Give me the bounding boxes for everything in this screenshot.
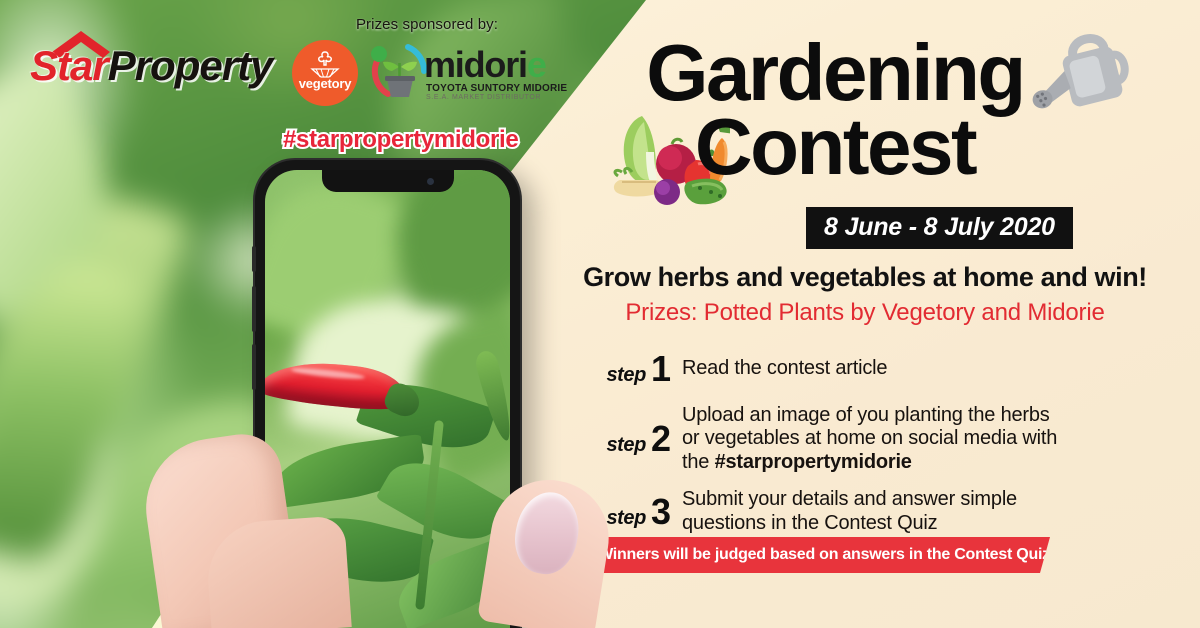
prizes-line: Prizes: Potted Plants by Vegetory and Mi…: [560, 299, 1170, 327]
logo-property-text: Property: [108, 42, 273, 89]
step-2-tag: step2: [600, 418, 682, 460]
step-2-text: Upload an image of you planting the herb…: [682, 404, 1070, 474]
step-2-hashtag: #starpropertymidorie: [715, 451, 912, 473]
midorie-wordmark: midorie: [424, 47, 546, 83]
step-1-tag: step1: [600, 348, 682, 390]
step-3-label: step: [606, 507, 646, 529]
watering-can-icon: [1022, 30, 1134, 122]
hashtag-label: #starpropertymidorie: [283, 126, 518, 154]
sponsors-label: Prizes sponsored by:: [292, 16, 562, 33]
midorie-name-dark: midori: [424, 44, 527, 85]
midorie-name-accent: e: [527, 44, 546, 85]
hand-holding-phone: [150, 430, 610, 628]
step-3-tag: step3: [600, 491, 682, 533]
step-item-1: step1 Read the contest article: [600, 348, 1070, 390]
step-item-3: step3 Submit your details and answer sim…: [600, 488, 1070, 535]
logo-star-text: Star: [30, 42, 108, 89]
step-1-text: Read the contest article: [682, 357, 887, 380]
step-2-number: 2: [651, 418, 670, 459]
winners-note-banner: Winners will be judged based on answers …: [598, 537, 1050, 573]
title-line-2: Contest: [600, 110, 1070, 184]
starproperty-wordmark: StarProperty: [30, 42, 272, 90]
step-item-2: step2 Upload an image of you planting th…: [600, 404, 1070, 474]
vegetory-logo[interactable]: vegetory: [292, 40, 358, 106]
step-1-label: step: [606, 364, 646, 386]
midorie-logo[interactable]: midorie TOYOTA SUNTORY MIDORIE S.E.A. MA…: [368, 39, 550, 107]
step-1-number: 1: [651, 348, 670, 389]
sponsors-block: Prizes sponsored by: vegetory: [292, 16, 562, 107]
starproperty-logo[interactable]: StarProperty: [30, 30, 270, 92]
banner-canvas: StarProperty Prizes sponsored by: vegeto…: [0, 0, 1200, 628]
steps-list: step1 Read the contest article step2 Upl…: [600, 348, 1070, 549]
potted-plant-icon: [368, 41, 430, 103]
date-badge: 8 June - 8 July 2020: [806, 207, 1073, 249]
phone-notch-icon: [322, 170, 454, 192]
midorie-subtitle-2: S.E.A. MARKET DISTRIBUTOR: [426, 94, 541, 101]
page-title: Gardening Contest: [600, 36, 1070, 183]
step-3-number: 3: [651, 491, 670, 532]
tagline: Grow herbs and vegetables at home and wi…: [560, 262, 1170, 293]
step-3-text: Submit your details and answer simple qu…: [682, 488, 1070, 535]
vegetory-wordmark: vegetory: [292, 76, 358, 91]
step-2-label: step: [606, 434, 646, 456]
midorie-subtitle-1: TOYOTA SUNTORY MIDORIE: [426, 83, 567, 94]
